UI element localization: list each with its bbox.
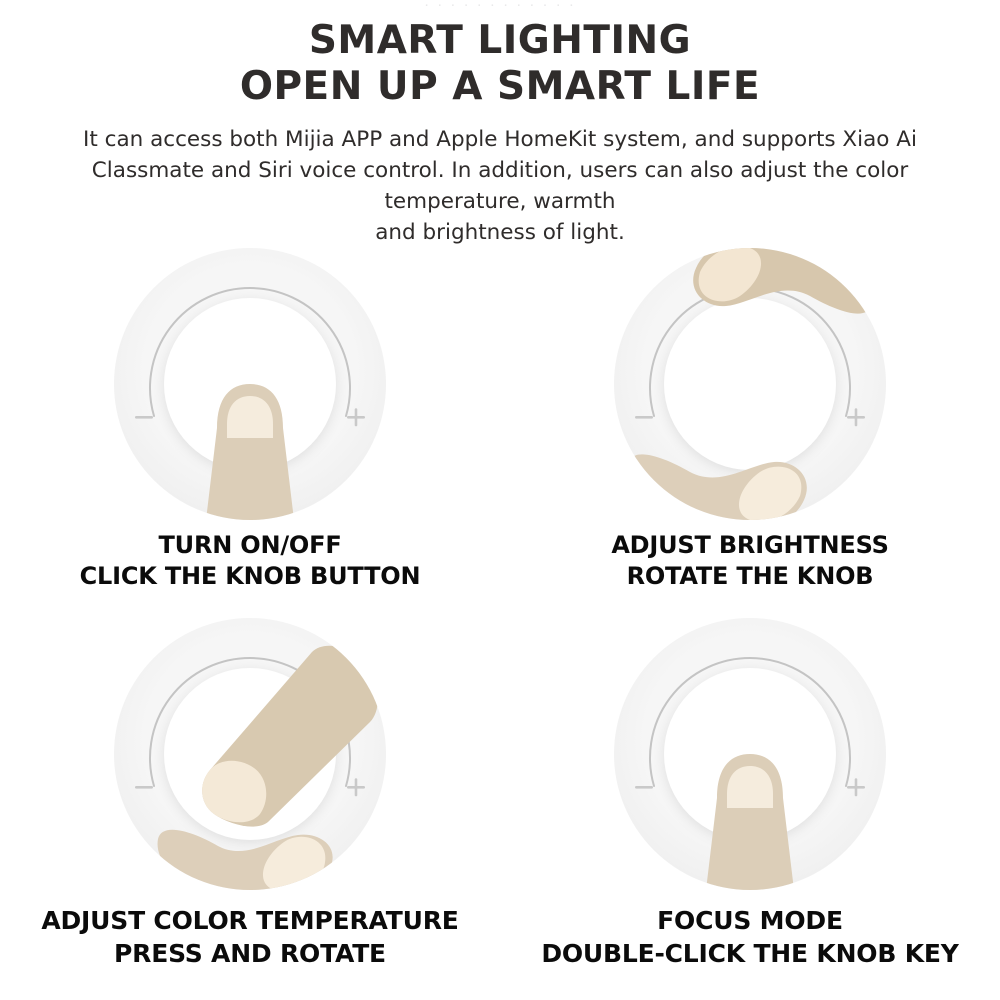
feature-caption-turn-on-off: TURN ON/OFF CLICK THE KNOB BUTTON — [80, 530, 421, 592]
caption-line-1: TURN ON/OFF — [80, 530, 421, 561]
caption-line-2: ROTATE THE KNOB — [611, 561, 888, 592]
knob-illustration-focus-mode — [614, 618, 886, 890]
knob-minus-icon — [135, 416, 153, 419]
caption-line-2: CLICK THE KNOB BUTTON — [80, 561, 421, 592]
feature-cell-adjust-color-temperature: ADJUST COLOR TEMPERATURE PRESS AND ROTAT… — [0, 618, 500, 988]
caption-line-1: ADJUST COLOR TEMPERATURE — [41, 904, 458, 937]
header: SMART LIGHTING OPEN UP A SMART LIFE It c… — [0, 18, 1000, 248]
caption-line-2: DOUBLE-CLICK THE KNOB KEY — [541, 937, 958, 970]
knob-illustration-turn-on-off — [114, 248, 386, 520]
title-line-1: SMART LIGHTING — [0, 18, 1000, 64]
feature-caption-focus-mode: FOCUS MODE DOUBLE-CLICK THE KNOB KEY — [541, 904, 958, 970]
knob-minus-icon — [135, 786, 153, 789]
page-subtitle: It can access both Mijia APP and Apple H… — [50, 124, 950, 248]
clipped-top-strip: · · · · · · · · · · · · — [0, 0, 1000, 12]
knob-inner-disc — [664, 298, 836, 470]
feature-caption-adjust-brightness: ADJUST BRIGHTNESS ROTATE THE KNOB — [611, 530, 888, 592]
caption-line-2: PRESS AND ROTATE — [41, 937, 458, 970]
caption-line-1: ADJUST BRIGHTNESS — [611, 530, 888, 561]
subtitle-line-3: temperature, warmth — [50, 186, 950, 217]
title-line-2: OPEN UP A SMART LIFE — [0, 64, 1000, 110]
page-title: SMART LIGHTING OPEN UP A SMART LIFE — [0, 18, 1000, 110]
subtitle-line-1: It can access both Mijia APP and Apple H… — [50, 124, 950, 155]
knob-minus-icon — [635, 786, 653, 789]
caption-line-1: FOCUS MODE — [541, 904, 958, 937]
subtitle-line-2: Classmate and Siri voice control. In add… — [50, 155, 950, 186]
knob-illustration-adjust-color-temperature — [114, 618, 386, 890]
knob-illustration-adjust-brightness — [614, 248, 886, 520]
feature-cell-focus-mode: FOCUS MODE DOUBLE-CLICK THE KNOB KEY — [500, 618, 1000, 988]
feature-cell-adjust-brightness: ADJUST BRIGHTNESS ROTATE THE KNOB — [500, 248, 1000, 618]
feature-cell-turn-on-off: TURN ON/OFF CLICK THE KNOB BUTTON — [0, 248, 500, 618]
subtitle-line-4: and brightness of light. — [50, 217, 950, 248]
knob-minus-icon — [635, 416, 653, 419]
feature-grid: TURN ON/OFF CLICK THE KNOB BUTTON — [0, 248, 1000, 988]
feature-caption-adjust-color-temperature: ADJUST COLOR TEMPERATURE PRESS AND ROTAT… — [41, 904, 458, 970]
